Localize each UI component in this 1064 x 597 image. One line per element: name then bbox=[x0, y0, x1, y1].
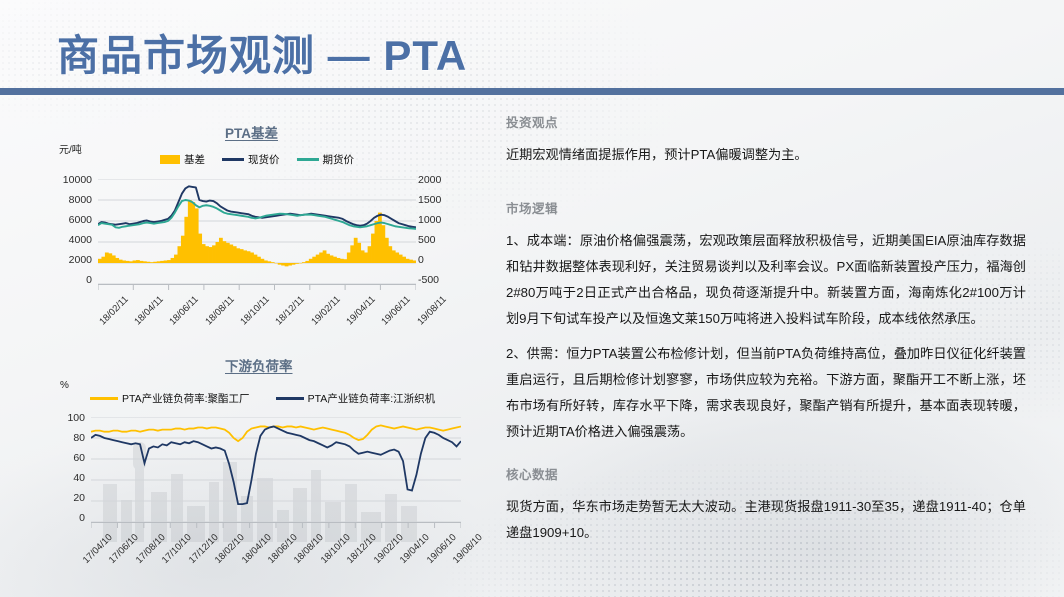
basis-swatch-icon bbox=[160, 155, 180, 164]
y-right-tick: 1000 bbox=[418, 214, 468, 226]
commentary-panel: 投资观点 近期宏观情绪面提振作用，预计PTA偏暖调整为主。 市场逻辑 1、成本端… bbox=[506, 112, 1026, 546]
y-left-tick: 100 bbox=[40, 412, 85, 424]
y-left-tick: 2000 bbox=[40, 254, 92, 266]
y-left-tick: 4000 bbox=[40, 234, 92, 246]
legend-item-futures: 期货价 bbox=[297, 152, 355, 167]
y-left-tick: 60 bbox=[40, 452, 85, 464]
y-right-tick: 0 bbox=[418, 254, 468, 266]
legend-item-spot: 现货价 bbox=[222, 152, 280, 167]
chart-pta-basis-unit-left: 元/吨 bbox=[59, 141, 82, 156]
y-right-tick: 500 bbox=[418, 234, 468, 246]
chart-downstream-load-unit-left: % bbox=[60, 380, 69, 391]
slide-canvas: 商品市场观测 — PTA PTA基差 元/吨 基差 现货价 期货价 10000 … bbox=[0, 0, 1064, 597]
futures-swatch-icon bbox=[297, 158, 319, 161]
y-left-tick: 8000 bbox=[40, 194, 92, 206]
legend-item-jiangzhe-loom: PTA产业链负荷率:江浙织机 bbox=[276, 391, 436, 406]
chart-pta-basis-plot bbox=[98, 179, 416, 284]
legend-label-basis: 基差 bbox=[184, 152, 205, 167]
legend-label-jiangzhe-loom: PTA产业链负荷率:江浙织机 bbox=[308, 391, 436, 406]
y-left-tick: 0 bbox=[40, 274, 92, 286]
y-left-tick: 80 bbox=[40, 432, 85, 444]
section-heading-core-data: 核心数据 bbox=[506, 464, 1026, 483]
y-right-tick: 2000 bbox=[418, 174, 468, 186]
legend-item-polyester-plant: PTA产业链负荷率:聚酯工厂 bbox=[90, 391, 250, 406]
chart-downstream-load: 下游负荷率 % PTA产业链负荷率:聚酯工厂 PTA产业链负荷率:江浙织机 10… bbox=[40, 350, 480, 590]
legend-item-basis: 基差 bbox=[160, 152, 205, 167]
chart-downstream-load-axis bbox=[91, 522, 461, 530]
legend-label-polyester-plant: PTA产业链负荷率:聚酯工厂 bbox=[122, 391, 250, 406]
section-heading-market-logic: 市场逻辑 bbox=[506, 198, 1026, 217]
slide-header: 商品市场观测 — PTA bbox=[0, 0, 1064, 97]
y-left-tick: 40 bbox=[40, 472, 85, 484]
y-right-tick: 1500 bbox=[418, 194, 468, 206]
chart-pta-basis-axis bbox=[98, 284, 416, 292]
legend-label-spot: 现货价 bbox=[248, 152, 280, 167]
spacer bbox=[506, 332, 1026, 341]
spacer bbox=[506, 445, 1026, 464]
y-left-tick: 10000 bbox=[40, 174, 92, 186]
chart-downstream-load-title: 下游负荷率 bbox=[225, 355, 293, 375]
header-divider bbox=[0, 88, 1064, 95]
section-body-investment-view: 近期宏观情绪面提振作用，预计PTA偏暖调整为主。 bbox=[506, 142, 1026, 168]
y-left-tick: 20 bbox=[40, 492, 85, 504]
section-body-core-data: 现货方面，华东市场走势暂无太大波动。主港现货报盘1911-30至35，递盘191… bbox=[506, 494, 1026, 546]
section-body-market-logic-p2: 2、供需：恒力PTA装置公布检修计划，但当前PTA负荷维持高位，叠加昨日仪征化纤… bbox=[506, 341, 1026, 445]
chart-downstream-load-legend: PTA产业链负荷率:聚酯工厂 PTA产业链负荷率:江浙织机 bbox=[90, 391, 435, 406]
spot-swatch-icon bbox=[222, 158, 244, 161]
page-title: 商品市场观测 — PTA bbox=[57, 22, 467, 83]
y-left-tick: 6000 bbox=[40, 214, 92, 226]
legend-label-futures: 期货价 bbox=[323, 152, 355, 167]
section-body-market-logic-p1: 1、成本端：原油价格偏强震荡，宏观政策层面释放积极信号，近期美国EIA原油库存数… bbox=[506, 228, 1026, 332]
chart-pta-basis-legend: 基差 现货价 期货价 bbox=[160, 152, 354, 167]
chart-downstream-load-plot bbox=[91, 417, 461, 522]
spacer bbox=[506, 168, 1026, 198]
jiangzhe-swatch-icon bbox=[276, 397, 304, 400]
y-right-tick: -500 bbox=[418, 274, 468, 286]
chart-pta-basis: PTA基差 元/吨 基差 现货价 期货价 10000 8000 6000 400… bbox=[40, 112, 480, 342]
chart-pta-basis-title: PTA基差 bbox=[225, 122, 278, 142]
polyester-swatch-icon bbox=[90, 397, 118, 400]
section-heading-investment-view: 投资观点 bbox=[506, 112, 1026, 131]
y-left-tick: 0 bbox=[40, 512, 85, 524]
